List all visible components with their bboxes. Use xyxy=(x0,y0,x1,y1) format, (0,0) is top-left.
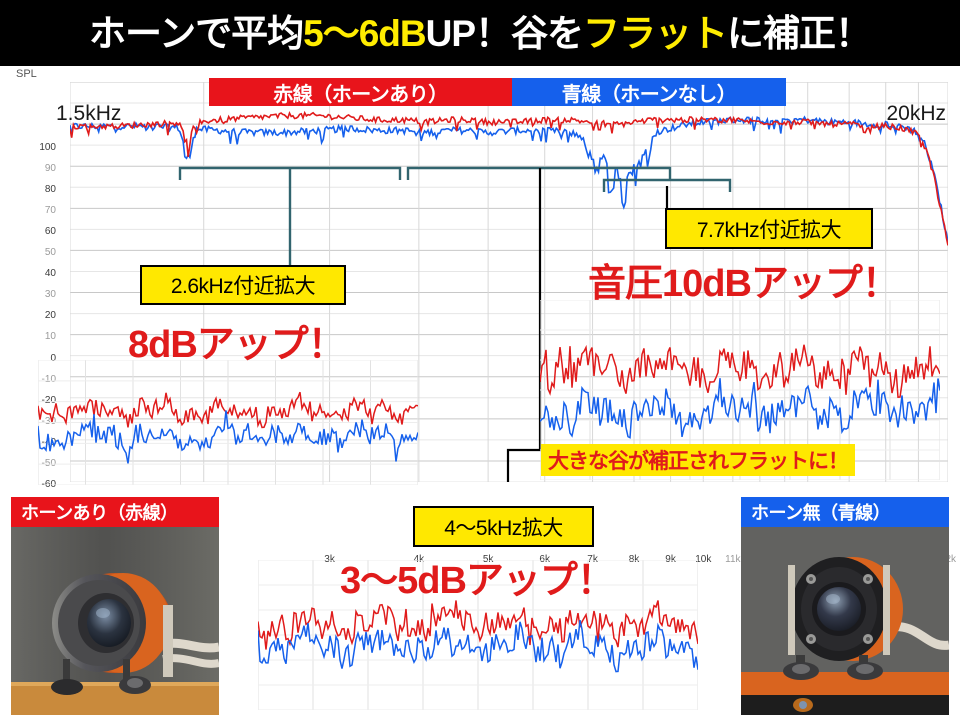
y-tick-label: 80 xyxy=(22,184,56,195)
callout-box-2-6khz: 2.6kHz付近拡大 xyxy=(140,265,346,305)
photo-card-with-horn: ホーンあり（赤線） xyxy=(11,497,219,715)
callout-3-5db-up: 3〜5dBアップ！ xyxy=(340,549,614,604)
page-title: ホーンで平均5〜6dBUP！谷をフラットに補正！ xyxy=(89,15,871,52)
callout-flat-note: 大きな谷が補正されフラットに！ xyxy=(541,444,855,476)
y-tick-label: 70 xyxy=(22,205,56,216)
range-start-label: 1.5kHz xyxy=(56,102,121,126)
bare-tweeter-photo xyxy=(741,527,949,715)
photo-caption-no-horn: ホーン無（青線） xyxy=(741,497,949,527)
callout-box-7-7khz: 7.7kHz付近拡大 xyxy=(665,208,873,249)
callout-8db-up: 8dBアップ！ xyxy=(128,313,345,368)
y-tick-label: 60 xyxy=(22,226,56,237)
chart-legend: 赤線（ホーンあり） 青線（ホーンなし） xyxy=(209,78,786,106)
photo-image-no-horn xyxy=(741,527,949,715)
y-tick-label: 30 xyxy=(22,289,56,300)
callout-box-4-5khz: 4〜5kHz拡大 xyxy=(413,506,594,547)
y-axis-title: SPL xyxy=(16,68,37,80)
title-seg-3: フラット xyxy=(583,13,727,54)
legend-item-red: 赤線（ホーンあり） xyxy=(209,78,512,106)
y-tick-label: 50 xyxy=(22,247,56,258)
y-tick-label: 20 xyxy=(22,310,56,321)
y-tick-label: 40 xyxy=(22,268,56,279)
callout-10db-up: 音圧10dBアップ！ xyxy=(588,252,899,307)
photo-card-no-horn: ホーン無（青線） xyxy=(741,497,949,715)
title-banner: ホーンで平均5〜6dBUP！谷をフラットに補正！ xyxy=(0,0,960,66)
legend-item-blue: 青線（ホーンなし） xyxy=(512,78,786,106)
y-tick-label: 90 xyxy=(22,163,56,174)
title-seg-1: 5〜6dB xyxy=(303,13,425,54)
title-seg-0: ホーンで平均 xyxy=(89,13,303,54)
photo-caption-with-horn: ホーンあり（赤線） xyxy=(11,497,219,527)
y-tick-label: 10 xyxy=(22,331,56,342)
title-seg-2: UP！谷を xyxy=(426,13,583,54)
y-tick-label: 100 xyxy=(22,142,56,153)
photo-image-with-horn xyxy=(11,527,219,715)
horn-tweeter-photo xyxy=(11,527,219,715)
range-end-label: 20kHz xyxy=(886,102,946,126)
title-seg-4: に補正！ xyxy=(727,13,871,54)
inset-plot-2-6khz xyxy=(38,360,418,485)
